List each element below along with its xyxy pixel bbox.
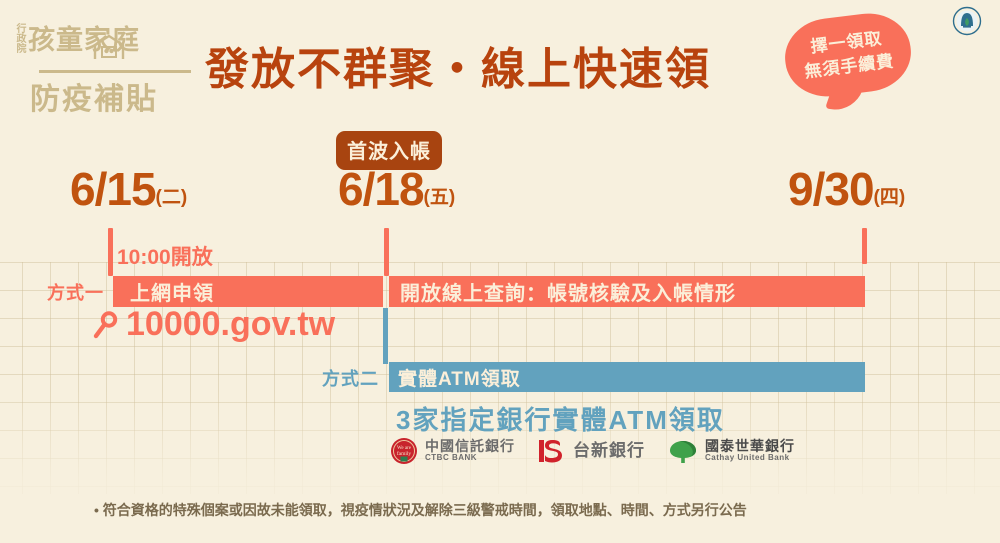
bar-online-application-label: 上網申領 [130,277,214,306]
atm-subheading: 3家指定銀行實體ATM領取 [396,400,725,437]
bank-logo-list: We are family 中國信託銀行 CTBC BANK 台新銀行 Tais… [390,437,795,465]
date-3: 9/30(四) [788,162,905,216]
date-1: 6/15(二) [70,162,187,216]
logo-divider [39,70,191,73]
page-title: 發放不群聚・線上快速領 [205,33,711,97]
bubble-tail [825,79,865,112]
timeline-tick-2 [384,228,389,276]
bubble-text: 擇一領取 無須手續費 [783,24,914,87]
timeline-tick-3 [862,228,867,264]
bank-ctbc: We are family 中國信託銀行 CTBC BANK [390,437,515,465]
ministry-of-education-seal-icon [952,6,982,36]
bar-online-application: 上網申領 [113,276,383,307]
bank-cathay: 國泰世華銀行 Cathay United Bank [668,437,795,465]
logo-agency-text: 行政院 [14,23,25,57]
date-3-value: 9/30 [788,163,874,215]
bar-online-query: 開放線上查詢：帳號核驗及入帳情形 [389,276,865,307]
infographic-poster: 行政院 孩童家庭 防疫補貼 發放不群聚・線上快速領 擇一領取 無須手續費 6/1… [0,0,1000,543]
fee-notice-bubble: 擇一領取 無須手續費 [781,9,916,102]
cathay-tree-icon [668,437,698,465]
date-2: 6/18(五) [338,162,455,216]
bank-cathay-name-en: Cathay United Bank [705,454,795,462]
bank-ctbc-name-cn: 中國信託銀行 [425,439,515,454]
logo-sub-text: 防疫補貼 [30,74,158,118]
magnifier-icon [92,310,120,340]
date-2-weekday: (五) [424,187,456,208]
bank-taishin-name-cn: 台新銀行 [573,442,645,460]
first-payout-badge: 首波入帳 [336,131,442,170]
bank-ctbc-name-en: CTBC BANK [425,454,515,462]
house-icon [92,34,126,60]
ctbc-seal-icon: We are family [390,437,418,465]
application-website[interactable]: 10000.gov.tw [92,305,335,344]
bank-cathay-name-cn: 國泰世華銀行 [705,439,795,454]
method-1-label: 方式一 [47,279,104,305]
bar-physical-atm-label: 實體ATM領取 [398,364,521,391]
date-1-weekday: (二) [156,187,188,208]
taishin-s-icon [538,437,566,465]
timeline-tick-1 [108,228,113,276]
footnote: • 符合資格的特殊個案或因故未能領取，視疫情狀況及解除三級警戒時間，領取地點、時… [94,500,747,520]
bank-taishin: 台新銀行 Taishin Bank [538,437,645,465]
application-url-text[interactable]: 10000.gov.tw [126,305,335,344]
method-2-label: 方式二 [322,365,379,391]
date-2-value: 6/18 [338,163,424,215]
method-2-connector [383,308,388,364]
date-3-weekday: (四) [874,187,906,208]
svg-text:family: family [397,450,412,457]
opening-time-note: 10:00開放 [117,241,213,271]
bar-online-query-label: 開放線上查詢：帳號核驗及入帳情形 [400,277,736,306]
bar-physical-atm: 實體ATM領取 [389,362,865,392]
program-logo: 行政院 孩童家庭 防疫補貼 [14,18,194,110]
date-1-value: 6/15 [70,163,156,215]
